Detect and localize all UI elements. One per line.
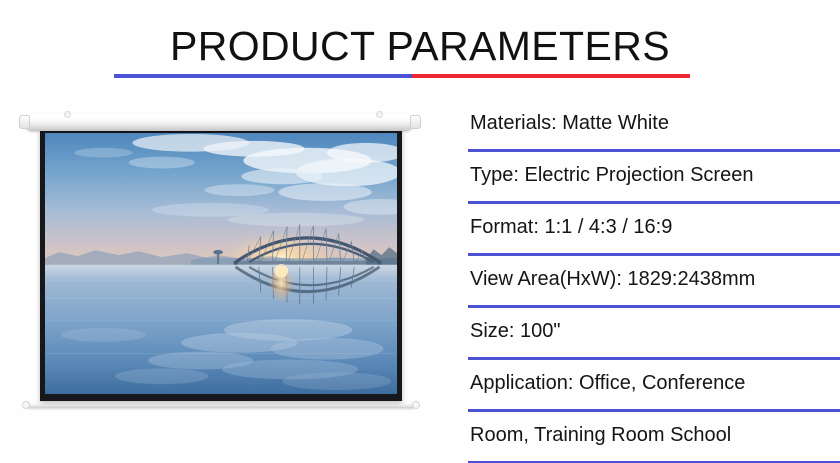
page-title-block: PRODUCT PARAMETERS (0, 22, 840, 70)
spec-text-materials: Materials: Matte White (468, 110, 671, 140)
spec-row-view-area: View Area(HxW): 1829:2438mm (468, 256, 840, 308)
screen-bottom-weight-bar (27, 402, 415, 408)
product-parameters-page: PRODUCT PARAMETERS (0, 0, 840, 463)
spec-row-application-continued: Room, Training Room School (468, 412, 840, 463)
spec-text-format: Format: 1:1 / 4:3 / 16:9 (468, 214, 674, 244)
title-underline-blue-segment (114, 74, 412, 78)
title-underline (114, 74, 690, 78)
weight-bar-cap-right (412, 401, 420, 409)
spec-text-application: Application: Office, Conference (468, 370, 747, 400)
spec-row-format: Format: 1:1 / 4:3 / 16:9 (468, 204, 840, 256)
title-underline-red-segment (412, 74, 690, 78)
product-photo (10, 104, 435, 424)
spec-text-size: Size: 100" (468, 318, 563, 348)
spec-text-application-continued: Room, Training Room School (468, 422, 733, 452)
specifications-list: Materials: Matte White Type: Electric Pr… (468, 100, 840, 463)
spec-row-application: Application: Office, Conference (468, 360, 840, 412)
projected-scene-image (45, 133, 397, 394)
spec-text-type: Type: Electric Projection Screen (468, 162, 755, 192)
page-title: PRODUCT PARAMETERS (0, 22, 840, 70)
lake-bridge-scene-svg (45, 133, 397, 394)
screen-casing-bar (24, 114, 414, 131)
casing-end-cap-left (19, 115, 30, 129)
spec-row-size: Size: 100" (468, 308, 840, 360)
spec-row-materials: Materials: Matte White (468, 100, 840, 152)
spec-text-view-area: View Area(HxW): 1829:2438mm (468, 266, 757, 296)
spec-row-type: Type: Electric Projection Screen (468, 152, 840, 204)
wall-bracket-left (64, 111, 71, 118)
weight-bar-cap-left (22, 401, 30, 409)
wall-bracket-right (376, 111, 383, 118)
casing-end-cap-right (410, 115, 421, 129)
screen-black-frame (40, 129, 402, 401)
